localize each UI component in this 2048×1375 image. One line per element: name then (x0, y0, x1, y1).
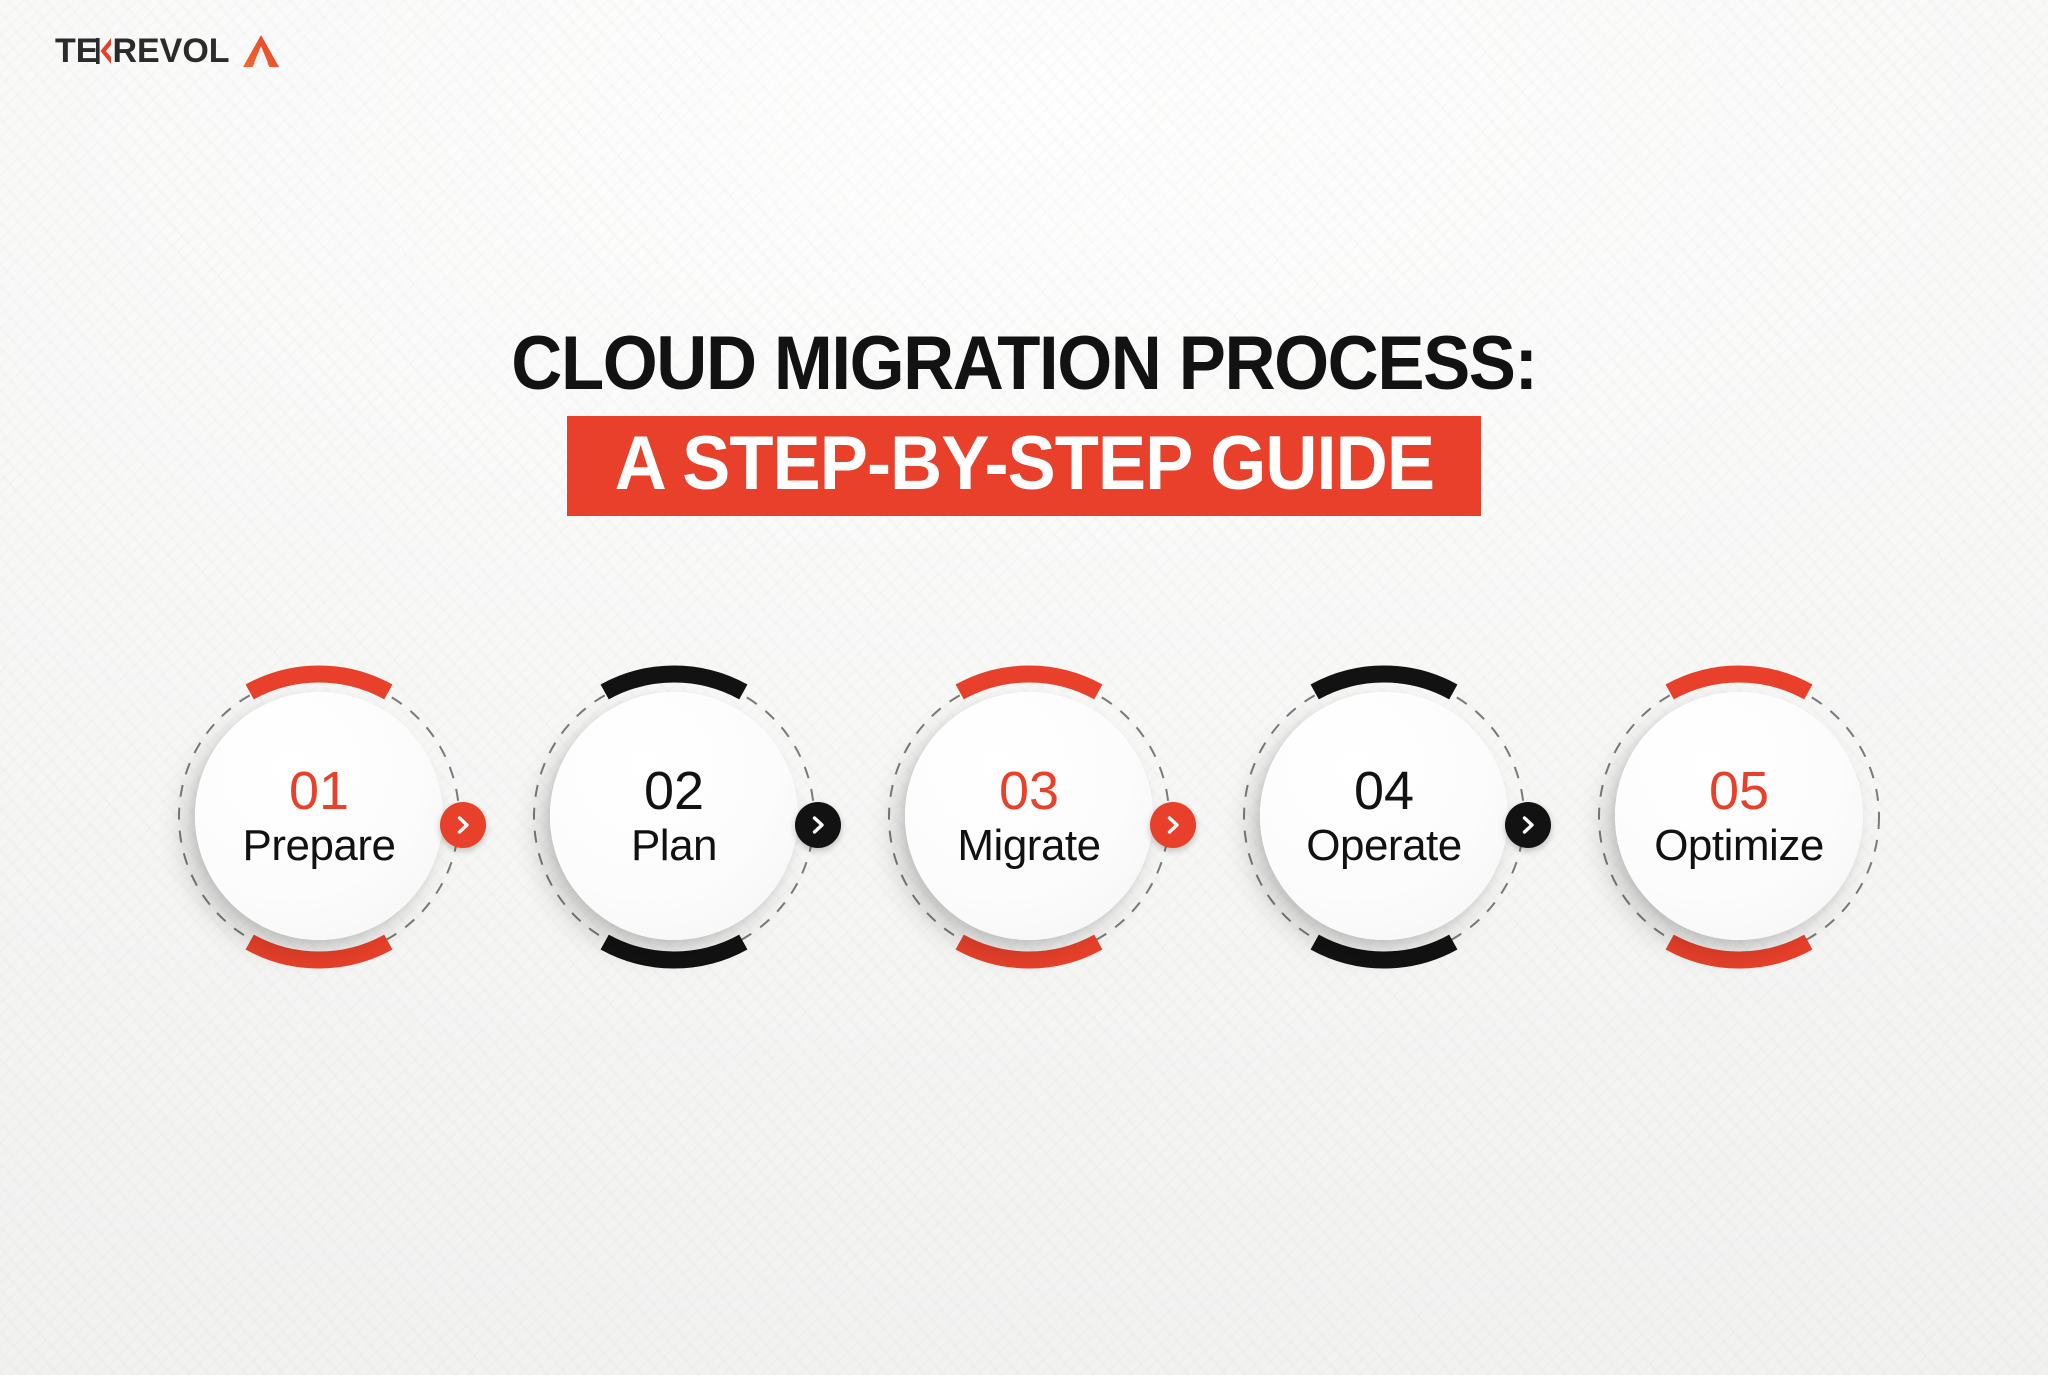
step-disc[interactable]: 05Optimize (1615, 692, 1863, 940)
process-step-prepare[interactable]: 01Prepare (155, 650, 485, 1000)
process-steps: 01Prepare02Plan03Migrate04Operate05Optim… (0, 650, 2048, 1000)
step-number: 02 (644, 764, 704, 818)
accent-arc-bottom (250, 942, 389, 960)
accent-arc-top (1670, 674, 1809, 692)
process-step-optimize[interactable]: 05Optimize (1575, 650, 1905, 1000)
accent-arc-top (1315, 674, 1454, 692)
process-step-plan[interactable]: 02Plan (510, 650, 840, 1000)
tekrevol-logo[interactable]: TE REVOL (55, 28, 281, 74)
page-title: CLOUD MIGRATION PROCESS: (72, 326, 1977, 402)
chevron-right-icon (1162, 814, 1184, 836)
step-label: Plan (631, 824, 717, 868)
logo-text-right: REVOL (112, 34, 229, 68)
chevron-k-icon (96, 36, 113, 66)
accent-arc-bottom (1315, 942, 1454, 960)
step-connector-arrow-1[interactable] (440, 802, 486, 848)
step-number: 04 (1354, 764, 1414, 818)
step-number: 01 (289, 764, 349, 818)
tekrevol-triangle-icon (241, 33, 281, 69)
step-label: Prepare (242, 824, 395, 868)
step-number: 03 (999, 764, 1059, 818)
step-connector-arrow-2[interactable] (795, 802, 841, 848)
process-step-migrate[interactable]: 03Migrate (865, 650, 1195, 1000)
subtitle-banner: A STEP-BY-STEP GUIDE (567, 416, 1482, 516)
step-disc[interactable]: 03Migrate (905, 692, 1153, 940)
chevron-right-icon (452, 814, 474, 836)
accent-arc-bottom (1670, 942, 1809, 960)
accent-arc-top (960, 674, 1099, 692)
page-heading: CLOUD MIGRATION PROCESS: A STEP-BY-STEP … (0, 326, 2048, 516)
step-label: Migrate (957, 824, 1100, 868)
chevron-right-icon (807, 814, 829, 836)
logo-wordmark: TE REVOL (55, 34, 230, 68)
step-label: Optimize (1654, 824, 1824, 868)
step-connector-arrow-3[interactable] (1150, 802, 1196, 848)
accent-arc-bottom (605, 942, 744, 960)
step-disc[interactable]: 02Plan (550, 692, 798, 940)
accent-arc-top (250, 674, 389, 692)
page-subtitle: A STEP-BY-STEP GUIDE (614, 426, 1433, 502)
step-number: 05 (1709, 764, 1769, 818)
logo-text-left: TE (55, 34, 98, 68)
accent-arc-top (605, 674, 744, 692)
step-disc[interactable]: 01Prepare (195, 692, 443, 940)
accent-arc-bottom (960, 942, 1099, 960)
step-connector-arrow-4[interactable] (1505, 802, 1551, 848)
process-step-operate[interactable]: 04Operate (1220, 650, 1550, 1000)
chevron-right-icon (1517, 814, 1539, 836)
step-disc[interactable]: 04Operate (1260, 692, 1508, 940)
step-label: Operate (1306, 824, 1461, 868)
